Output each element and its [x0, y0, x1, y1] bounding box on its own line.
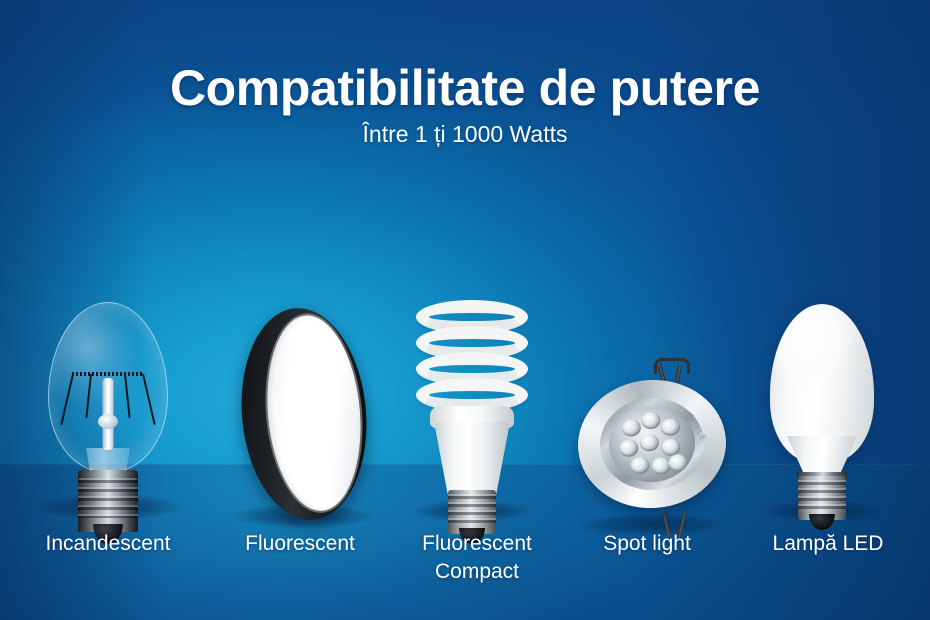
product-incandescent[interactable]	[38, 302, 178, 532]
product-labels: Incandescent Fluorescent Fluorescent Com…	[0, 530, 930, 608]
cfl-screw-base	[448, 490, 496, 534]
cfl-spiral-bulb-icon	[416, 300, 528, 418]
product-fluorescent-compact[interactable]	[412, 300, 532, 532]
label-fluorescent-compact: Fluorescent Compact	[382, 530, 572, 586]
banner-heading: Compatibilitate de putere Între 1 ți 100…	[0, 62, 930, 148]
incandescent-filament	[48, 348, 168, 458]
incandescent-screw-base	[78, 470, 138, 532]
fluorescent-panel-icon	[233, 303, 375, 525]
product-spot-light[interactable]: OPPLE	[572, 362, 732, 532]
label-spot-light: Spot light	[562, 530, 732, 558]
label-lampa-led: Lampă LED	[733, 530, 923, 558]
power-compatibility-banner: Compatibilitate de putere Între 1 ți 100…	[0, 0, 930, 620]
recessed-spotlight-icon: OPPLE	[574, 375, 731, 513]
page-subtitle: Între 1 ți 1000 Watts	[0, 121, 930, 148]
page-title: Compatibilitate de putere	[0, 62, 930, 115]
product-fluorescent[interactable]	[228, 302, 378, 532]
cfl-ballast-body	[434, 422, 510, 494]
product-row: OPPLE	[0, 282, 930, 532]
led-screw-base	[798, 476, 846, 520]
product-led-lamp[interactable]	[762, 304, 882, 532]
label-fluorescent: Fluorescent	[205, 530, 395, 558]
label-incandescent: Incandescent	[8, 530, 208, 558]
